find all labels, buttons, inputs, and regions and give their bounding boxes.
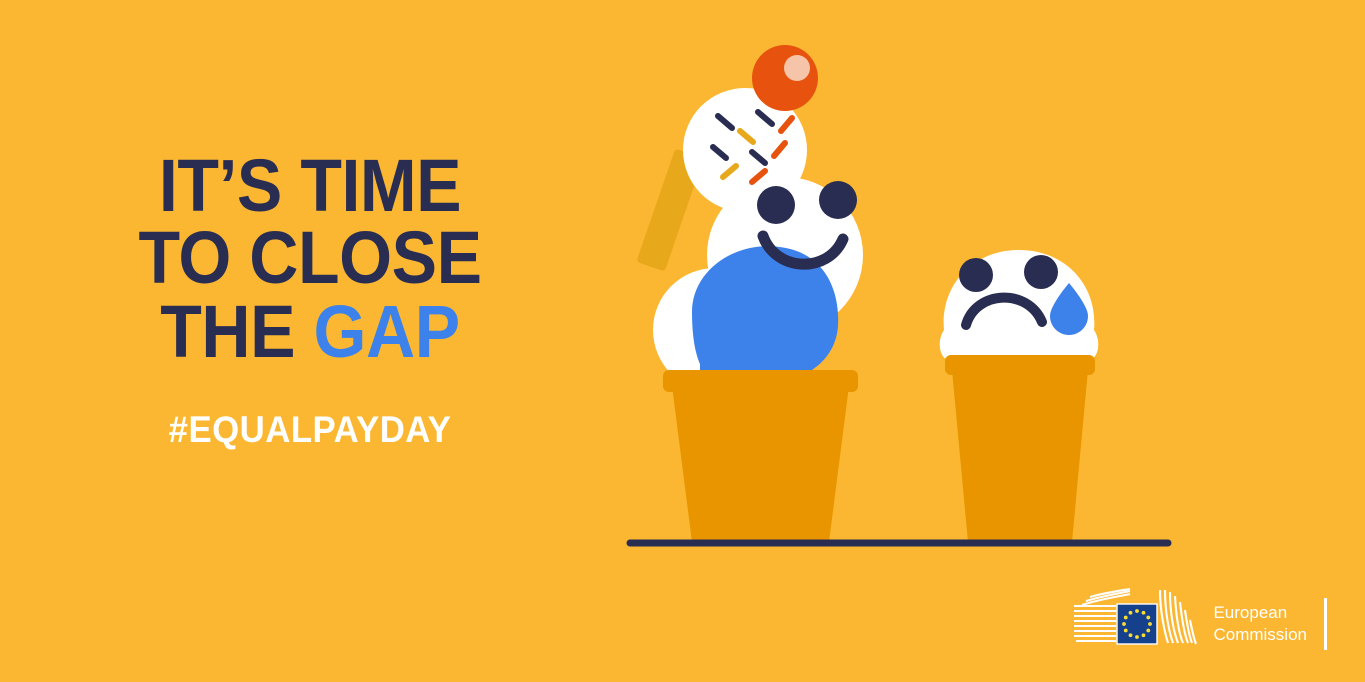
tall-happy-ice-cream [636,45,863,542]
sad-eye-right [1024,255,1058,289]
european-commission-logo: European Commission [1072,588,1327,660]
headline-line-3-prefix: THE [160,290,313,373]
happy-eye-left [757,186,795,224]
ice-cream-illustration-svg [600,0,1240,600]
headline-highlight-gap: GAP [314,290,460,373]
wordmark-line-2: Commission [1213,624,1307,646]
headline-line-2: TO CLOSE [25,222,595,294]
cherry-icon [752,45,818,111]
ice-cream-illustration [600,0,1240,600]
wordmark-line-1: European [1213,602,1307,624]
sad-eye-left [959,258,993,292]
short-cup [945,355,1095,542]
headline-block: IT’S TIME TO CLOSE THE GAP #EQUALPAYDAY [0,150,620,451]
eu-flag-icon [1117,604,1157,644]
tall-cup [663,370,858,542]
european-commission-emblem-icon [1072,588,1200,660]
campaign-hashtag: #EQUALPAYDAY [19,409,602,451]
european-commission-wordmark: European Commission [1213,602,1307,646]
logo-divider [1324,598,1327,650]
headline-line-1: IT’S TIME [25,150,595,222]
happy-eye-right [819,181,857,219]
short-sad-ice-cream [940,250,1099,542]
campaign-banner: IT’S TIME TO CLOSE THE GAP #EQUALPAYDAY [0,0,1365,682]
headline-line-3: THE GAP [25,296,595,368]
